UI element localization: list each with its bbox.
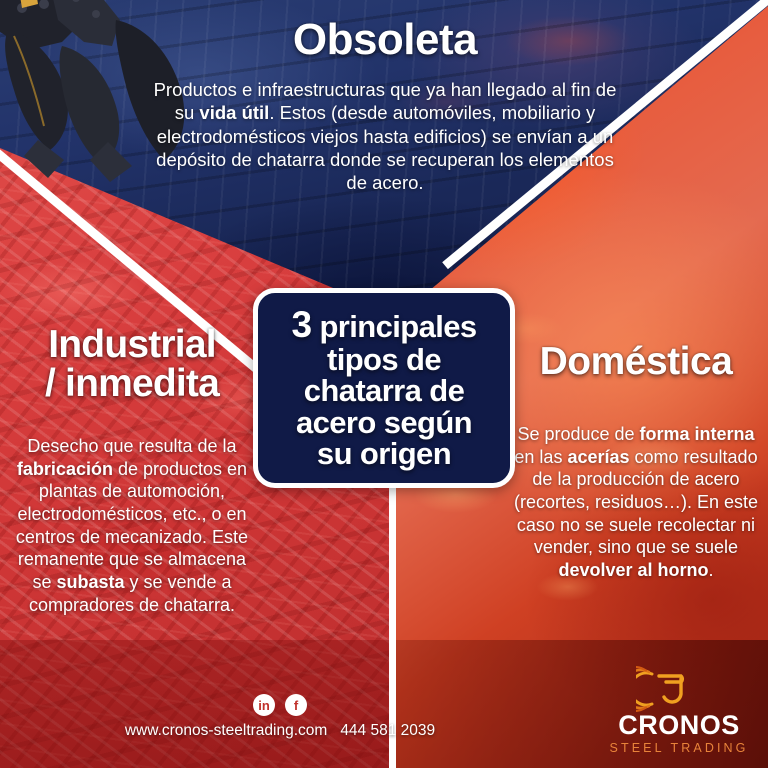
infographic-canvas: Obsoleta Productos e infraestructuras qu… bbox=[0, 0, 768, 768]
heading-industrial-line1: Industrial bbox=[6, 325, 258, 364]
cronos-c-mark-icon bbox=[636, 666, 690, 712]
footer: in f www.cronos-steeltrading.com444 581 … bbox=[0, 694, 560, 756]
phone-number[interactable]: 444 581 2039 bbox=[340, 722, 435, 739]
body-domestic: Se produce de forma interna en las acerí… bbox=[510, 423, 762, 582]
logo-wordmark: CRONOS bbox=[604, 712, 754, 739]
heading-domestic: Doméstica bbox=[510, 342, 762, 381]
heading-obsolete: Obsoleta bbox=[150, 18, 620, 62]
center-title-number: 3 bbox=[291, 304, 311, 345]
social-links: in f bbox=[0, 694, 560, 716]
section-obsolete: Obsoleta Productos e infraestructuras qu… bbox=[150, 18, 620, 194]
section-domestic: Doméstica Se produce de forma interna en… bbox=[510, 342, 762, 582]
center-title-badge: 3 principales tipos de chatarra de acero… bbox=[253, 288, 515, 488]
logo-tagline: STEEL TRADING bbox=[604, 742, 754, 755]
center-title-line1-rest: principales bbox=[311, 309, 476, 344]
website-link[interactable]: www.cronos-steeltrading.com bbox=[125, 722, 327, 739]
center-title-line5: su origen bbox=[317, 436, 451, 471]
body-obsolete: Productos e infraestructuras que ya han … bbox=[150, 78, 620, 194]
body-industrial: Desecho que resulta de la fabricación de… bbox=[6, 435, 258, 616]
section-industrial: Industrial / inmedita Desecho que result… bbox=[6, 325, 258, 616]
heading-industrial-line2: / inmedita bbox=[6, 364, 258, 403]
facebook-icon[interactable]: f bbox=[285, 694, 307, 716]
contact-info: www.cronos-steeltrading.com444 581 2039 bbox=[0, 722, 560, 740]
heading-industrial: Industrial / inmedita bbox=[6, 325, 258, 403]
cronos-logo: CRONOS STEEL TRADING bbox=[604, 666, 754, 758]
center-title-text: 3 principales tipos de chatarra de acero… bbox=[283, 306, 484, 470]
center-title-line3: chatarra de bbox=[304, 373, 465, 408]
center-title-line2: tipos de bbox=[327, 342, 441, 377]
center-title-line4: acero según bbox=[296, 405, 472, 440]
linkedin-icon[interactable]: in bbox=[253, 694, 275, 716]
